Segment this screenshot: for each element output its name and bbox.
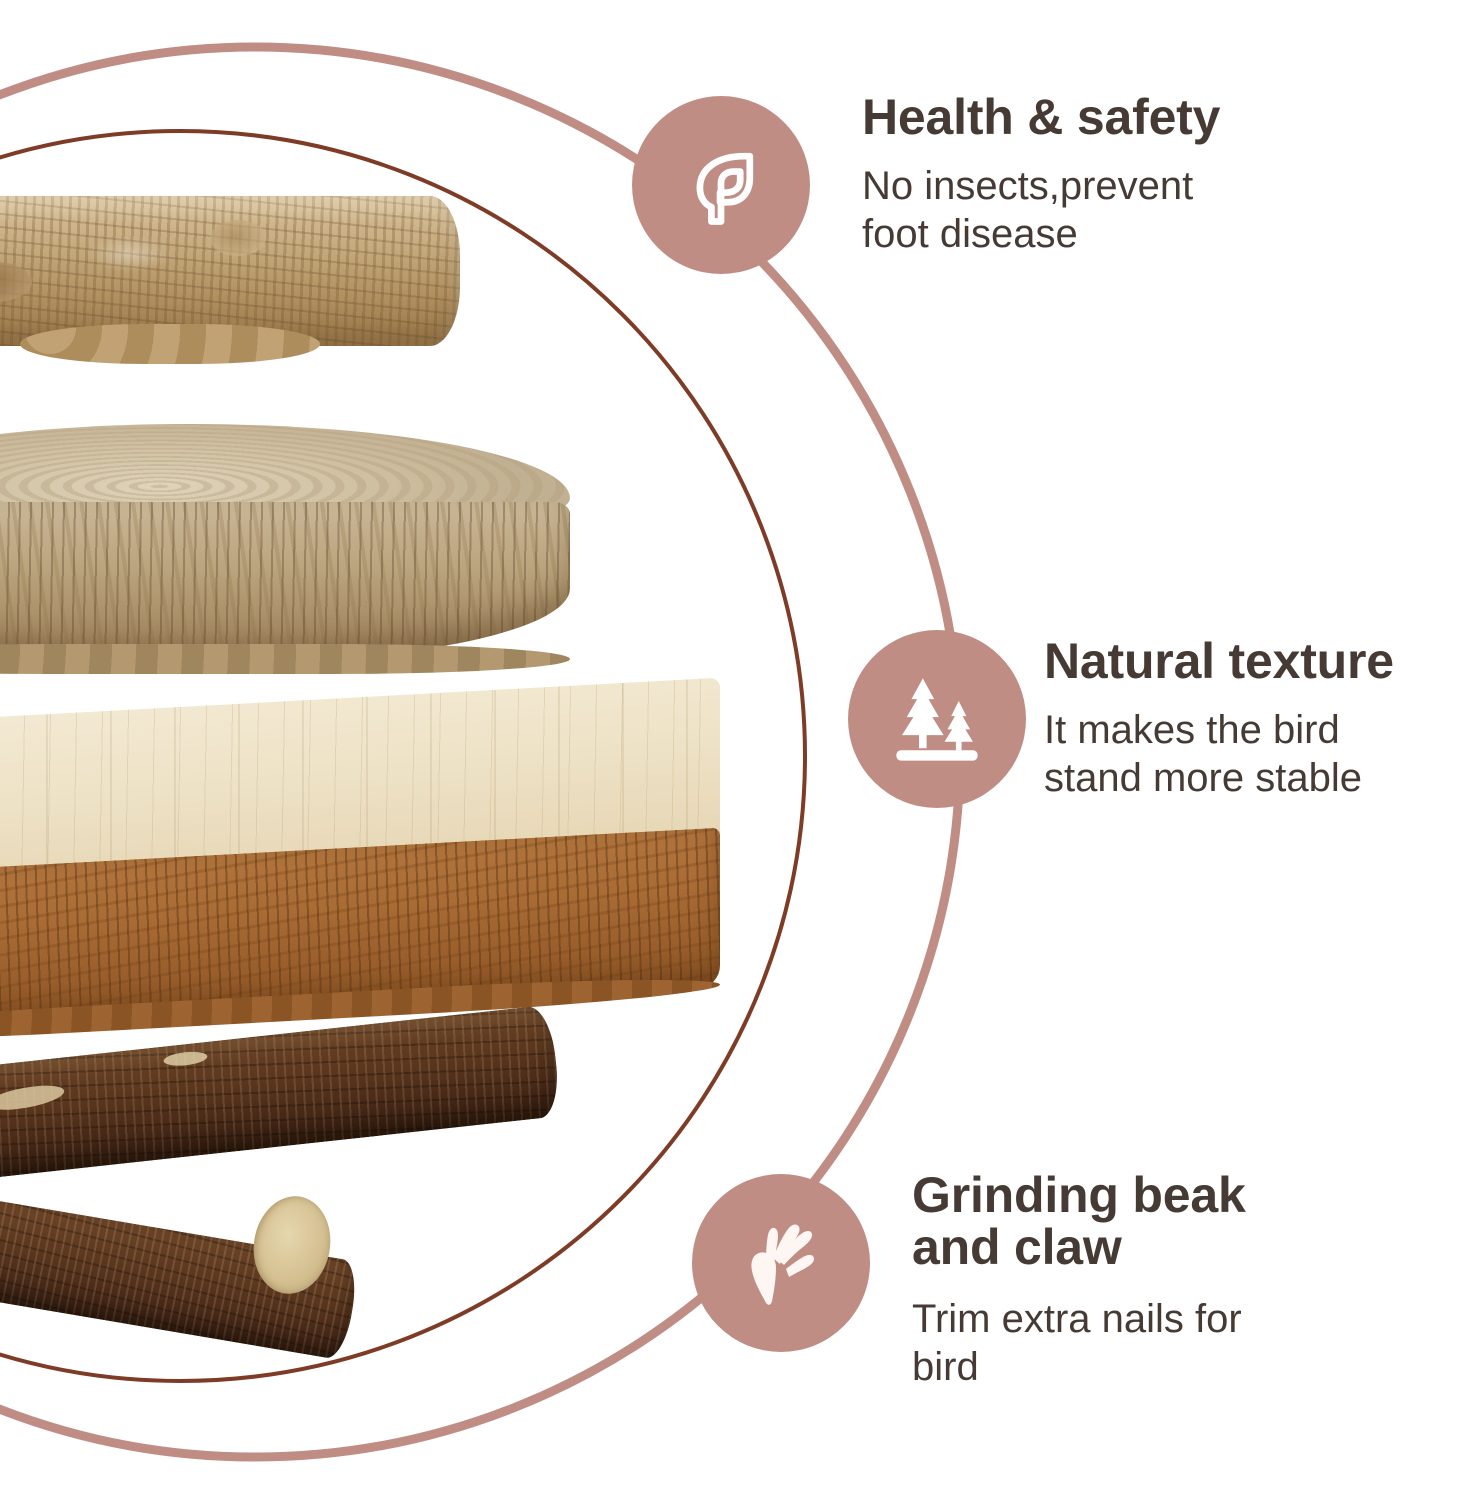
wood-slice-bark-edge [0, 502, 570, 662]
product-photo-wood-slice [0, 424, 570, 672]
twig-bark-scar-small [163, 1050, 208, 1068]
feature-text-block: Health & safety No insects,prevent foot … [862, 92, 1462, 258]
branch-knot [0, 262, 32, 302]
product-photo-branch-perch [0, 196, 460, 346]
bird-claw-icon [731, 1213, 831, 1313]
bird-claw-icon-badge [692, 1174, 870, 1352]
feature-text-block: Grinding beak and claw Trim extra nails … [912, 1170, 1382, 1391]
twig-bark-scar [0, 1081, 66, 1114]
feature-description: It makes the bird stand more stable [1044, 706, 1464, 802]
feature-text-block: Natural texture It makes the bird stand … [1044, 636, 1464, 802]
feature-description: Trim extra nails for bird [912, 1295, 1382, 1391]
feature-title: Health & safety [862, 92, 1462, 144]
branch-knot-secondary [210, 220, 266, 256]
pine-trees-icon [885, 667, 989, 771]
leaf-icon-badge [632, 96, 810, 274]
feature-description: No insects,prevent foot disease [862, 162, 1462, 258]
infographic-canvas: Health & safety No insects,prevent foot … [0, 0, 1464, 1500]
feature-title: Grinding beak and claw [912, 1170, 1382, 1273]
pine-trees-icon-badge [848, 630, 1026, 808]
feature-title: Natural texture [1044, 636, 1464, 688]
product-photo-wood-plank [0, 728, 720, 1058]
leaf-icon [673, 137, 769, 233]
